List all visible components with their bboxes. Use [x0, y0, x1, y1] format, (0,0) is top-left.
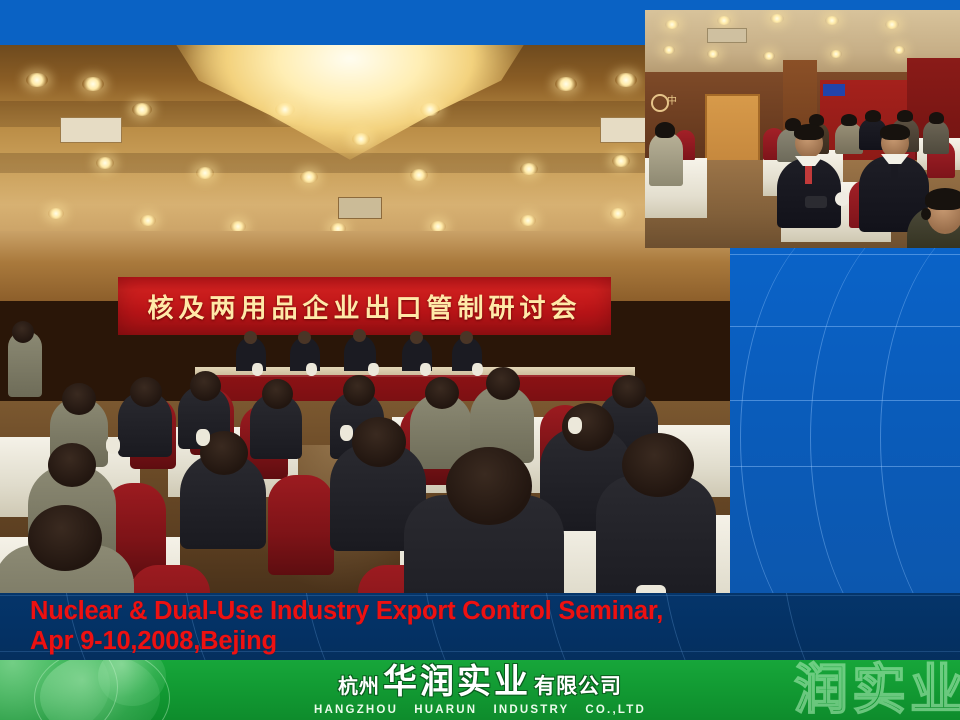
globe-grid-panel — [730, 248, 960, 593]
company-city-cn: 杭州 — [338, 677, 380, 697]
company-footer: 润实业 杭州 华润实业 有限公司 HANGZHOU HUARUN INDUSTR… — [0, 660, 960, 720]
seminar-red-banner: 核及两用品企业出口管制研讨会 — [118, 277, 611, 335]
delegates-photo: 中 — [645, 10, 960, 248]
company-name-en: HANGZHOU HUARUN INDUSTRY CO.,LTD — [314, 704, 646, 716]
conference-hall-photo: 核及两用品企业出口管制研讨会 — [0, 45, 730, 593]
slide-title: Nuclear & Dual-Use Industry Export Contr… — [30, 596, 930, 656]
company-suffix-cn: 有限公司 — [534, 676, 622, 697]
company-main-cn: 华润实业 — [383, 665, 531, 699]
seminar-banner-text: 核及两用品企业出口管制研讨会 — [147, 288, 581, 325]
wall-logo: 中 — [667, 92, 727, 108]
company-name-cn: 杭州 华润实业 有限公司 — [338, 665, 622, 699]
presentation-slide: 核及两用品企业出口管制研讨会 — [0, 0, 960, 720]
ceiling — [0, 45, 730, 240]
